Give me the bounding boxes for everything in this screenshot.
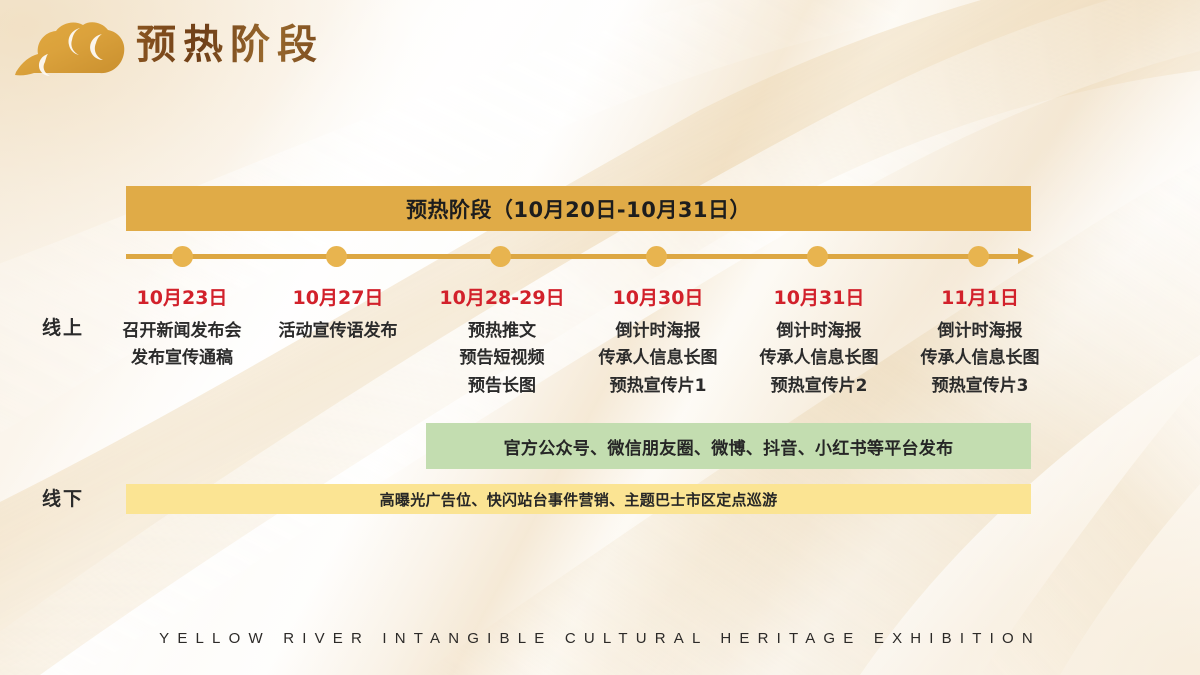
milestone-columns: 10月23日 召开新闻发布会 发布宣传通稿 10月27日 活动宣传语发布 10月… xyxy=(0,286,1200,411)
offline-channels-label: 高曝光广告位、快闪站台事件营销、主题巴士市区定点巡游 xyxy=(380,489,778,510)
footer-label: YELLOW RIVER INTANGIBLE CULTURAL HERITAG… xyxy=(159,630,1041,647)
online-channels-label: 官方公众号、微信朋友圈、微博、抖音、小红书等平台发布 xyxy=(504,434,954,459)
timeline-line xyxy=(126,254,1024,259)
timeline-dot xyxy=(326,246,347,267)
milestone-date: 11月1日 xyxy=(860,286,1100,311)
timeline-dot xyxy=(968,246,989,267)
milestone-column: 11月1日 倒计时海报 传承人信息长图 预热宣传片3 xyxy=(860,286,1100,400)
offline-channels-bar: 高曝光广告位、快闪站台事件营销、主题巴士市区定点巡游 xyxy=(126,484,1031,514)
milestone-item: 传承人信息长图 xyxy=(860,345,1100,373)
slide-header: 预热阶段 xyxy=(0,0,1200,105)
timeline-dot xyxy=(646,246,667,267)
arrow-right-icon xyxy=(1018,248,1034,264)
phase-banner-label: 预热阶段（10月20日-10月31日） xyxy=(406,194,751,224)
timeline-dot xyxy=(490,246,511,267)
slide-canvas: 预热阶段 预热阶段（10月20日-10月31日） 线上 线下 10月23日 召开… xyxy=(0,0,1200,675)
milestone-item: 倒计时海报 xyxy=(860,318,1100,346)
auspicious-cloud-icon xyxy=(12,18,128,86)
row-label-offline: 线下 xyxy=(42,484,84,511)
online-channels-bar: 官方公众号、微信朋友圈、微博、抖音、小红书等平台发布 xyxy=(426,423,1031,469)
page-title: 预热阶段 xyxy=(136,20,324,70)
milestone-item: 预热宣传片3 xyxy=(860,373,1100,401)
slide-footer: YELLOW RIVER INTANGIBLE CULTURAL HERITAG… xyxy=(0,618,1200,658)
milestone-item: 发布宣传通稿 xyxy=(62,345,302,373)
timeline-axis xyxy=(126,240,1036,274)
timeline-dot xyxy=(172,246,193,267)
timeline-dot xyxy=(807,246,828,267)
phase-banner: 预热阶段（10月20日-10月31日） xyxy=(126,186,1031,231)
